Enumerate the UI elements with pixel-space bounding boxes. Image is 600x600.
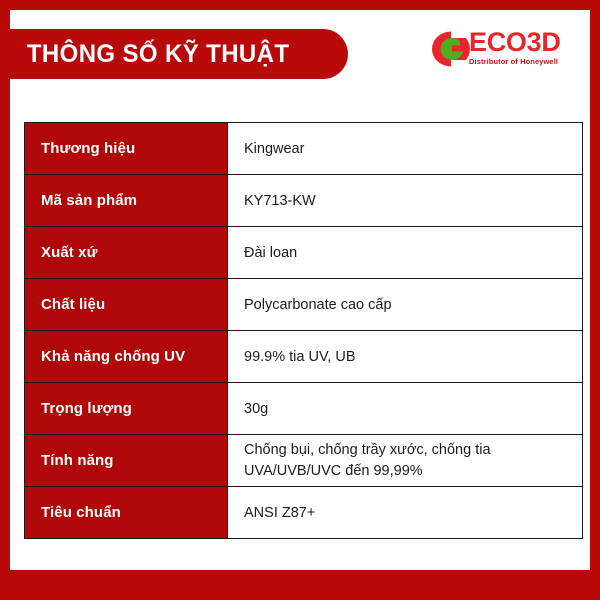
spec-label-cell: Trọng lượng: [25, 383, 228, 435]
logo-tagline: Distributor of Honeywell: [469, 57, 561, 66]
table-row: Thương hiệu Kingwear: [25, 123, 583, 175]
page-red-frame: THÔNG SỐ KỸ THUẬT ECO3D Distributor of H…: [0, 0, 600, 600]
table-row: Tiêu chuẩn ANSI Z87+: [25, 487, 583, 539]
spec-label-cell: Mã sản phẩm: [25, 175, 228, 227]
table-row: Khả năng chống UV 99.9% tia UV, UB: [25, 331, 583, 383]
spec-label-cell: Tính năng: [25, 435, 228, 487]
spec-value-cell: 99.9% tia UV, UB: [228, 331, 583, 383]
spec-value-cell: ANSI Z87+: [228, 487, 583, 539]
spec-label-cell: Khả năng chống UV: [25, 331, 228, 383]
spec-value-cell: Đài loan: [228, 227, 583, 279]
specification-table: Thương hiệu Kingwear Mã sản phẩm KY713-K…: [24, 122, 583, 539]
brand-logo: ECO3D Distributor of Honeywell: [432, 28, 572, 74]
table-row: Xuất xứ Đài loan: [25, 227, 583, 279]
title-banner: THÔNG SỐ KỸ THUẬT: [0, 29, 348, 79]
logo-text-block: ECO3D Distributor of Honeywell: [469, 28, 561, 66]
spec-table-body: Thương hiệu Kingwear Mã sản phẩm KY713-K…: [25, 123, 583, 539]
spec-label-cell: Xuất xứ: [25, 227, 228, 279]
spec-label-cell: Tiêu chuẩn: [25, 487, 228, 539]
spec-value-cell: Chống bụi, chống trầy xước, chống tia UV…: [228, 435, 583, 487]
spec-label-cell: Thương hiệu: [25, 123, 228, 175]
table-row: Mã sản phẩm KY713-KW: [25, 175, 583, 227]
table-row: Chất liệu Polycarbonate cao cấp: [25, 279, 583, 331]
page-title: THÔNG SỐ KỸ THUẬT: [0, 40, 289, 69]
spec-value-cell: Kingwear: [228, 123, 583, 175]
spec-value-cell: Polycarbonate cao cấp: [228, 279, 583, 331]
table-row: Trọng lượng 30g: [25, 383, 583, 435]
spec-value-cell: 30g: [228, 383, 583, 435]
header: THÔNG SỐ KỸ THUẬT ECO3D Distributor of H…: [0, 0, 600, 110]
table-row: Tính năng Chống bụi, chống trầy xước, ch…: [25, 435, 583, 487]
footer-red-bar: [0, 570, 600, 600]
eco3d-circular-g-mark-icon: [432, 31, 472, 67]
spec-value-cell: KY713-KW: [228, 175, 583, 227]
logo-wordmark: ECO3D: [469, 28, 561, 56]
spec-label-cell: Chất liệu: [25, 279, 228, 331]
